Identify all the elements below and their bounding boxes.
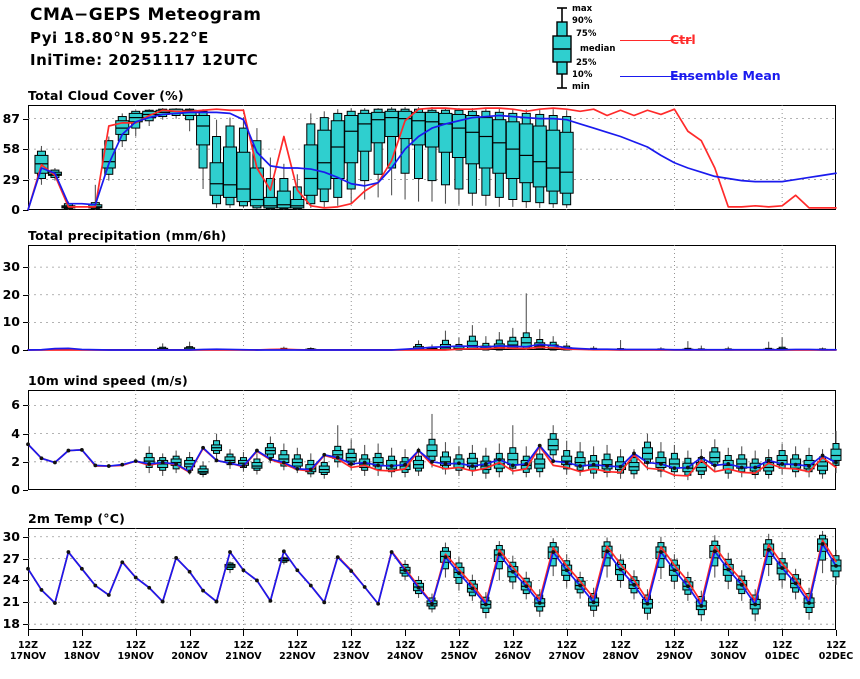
x-axis-label-0: 12Z17NOV [0,640,58,662]
y-label-cloud-29: 29 [0,172,20,187]
x-tick-2 [136,630,137,636]
x-tick-10 [567,630,568,636]
x-axis-hour-7: 12Z [375,640,435,651]
panel-title-precip: Total precipitation (mm/6h) [28,228,227,243]
x-tick-0 [28,630,29,636]
x-axis-hour-4: 12Z [213,640,273,651]
x-axis-hour-10: 12Z [537,640,597,651]
init-time: IniTime: 20251117 12UTC [30,49,262,71]
x-axis-label-4: 12Z21NOV [213,640,273,662]
x-axis-hour-14: 12Z [752,640,812,651]
x-axis-label-11: 12Z28NOV [591,640,651,662]
x-axis-label-8: 12Z25NOV [429,640,489,662]
legend-label-p90: 90% [572,16,592,26]
x-axis-date-15: 02DEC [806,651,860,662]
plot-canvas-wind [28,390,836,490]
y-tick-precip-0 [23,350,28,351]
x-axis-label-6: 12Z23NOV [321,640,381,662]
x-tick-12 [674,630,675,636]
legend: max 90% 75% median 25% 10% min Ctrl Ense… [548,2,848,94]
x-axis-hour-0: 12Z [0,640,58,651]
ctrl-legend-label: Ctrl [670,32,696,47]
x-axis-date-1: 18NOV [52,651,112,662]
y-label-temp-27: 27 [0,551,20,566]
y-label-cloud-87: 87 [0,111,20,126]
y-label-precip-20: 20 [0,287,20,302]
x-axis-hour-2: 12Z [106,640,166,651]
panel-wind-speed: 10m wind speed (m/s)0246 [28,390,836,490]
x-axis-hour-1: 12Z [52,640,112,651]
y-tick-precip-20 [23,295,28,296]
panel-2m-temp: 2m Temp (°C)1821242730 [28,528,836,630]
x-axis-date-8: 25NOV [429,651,489,662]
x-axis-label-14: 12Z01DEC [752,640,812,662]
x-axis-hour-9: 12Z [483,640,543,651]
x-axis-date-7: 24NOV [375,651,435,662]
x-tick-3 [190,630,191,636]
x-tick-7 [405,630,406,636]
x-tick-6 [351,630,352,636]
x-axis-date-12: 29NOV [644,651,704,662]
x-axis-label-7: 12Z24NOV [375,640,435,662]
x-tick-14 [782,630,783,636]
y-label-wind-2: 2 [0,454,20,469]
y-tick-cloud-0 [23,210,28,211]
x-axis-hour-11: 12Z [591,640,651,651]
y-label-precip-10: 10 [0,314,20,329]
y-label-temp-30: 30 [0,529,20,544]
y-label-temp-21: 21 [0,594,20,609]
panel-total-cloud-cover: Total Cloud Cover (%)0295887 [28,105,836,210]
x-tick-13 [728,630,729,636]
x-tick-9 [513,630,514,636]
x-axis-label-15: 12Z02DEC [806,640,860,662]
y-label-temp-18: 18 [0,616,20,631]
y-tick-temp-18 [23,624,28,625]
x-tick-15 [836,630,837,636]
y-label-wind-0: 0 [0,482,20,497]
y-label-wind-6: 6 [0,397,20,412]
x-tick-8 [459,630,460,636]
x-axis-date-4: 21NOV [213,651,273,662]
x-axis-date-0: 17NOV [0,651,58,662]
y-tick-temp-21 [23,602,28,603]
x-axis-date-2: 19NOV [106,651,166,662]
x-axis-hour-6: 12Z [321,640,381,651]
y-tick-cloud-58 [23,149,28,150]
plot-canvas-temp [28,528,836,630]
y-tick-temp-24 [23,580,28,581]
legend-label-max: max [572,4,592,14]
x-axis-hour-13: 12Z [698,640,758,651]
y-tick-precip-30 [23,267,28,268]
y-tick-cloud-87 [23,119,28,120]
ensemble-legend-label: Ensemble Mean [670,68,781,83]
legend-label-p25: 25% [576,58,596,68]
y-tick-cloud-29 [23,180,28,181]
legend-label-min: min [572,82,590,92]
panel-title-temp: 2m Temp (°C) [28,511,125,526]
y-label-wind-4: 4 [0,426,20,441]
x-axis-label-9: 12Z26NOV [483,640,543,662]
y-label-precip-0: 0 [0,342,20,357]
x-axis-labels: 12Z17NOV12Z18NOV12Z19NOV12Z20NOV12Z21NOV… [28,640,836,672]
x-axis-hour-5: 12Z [267,640,327,651]
x-axis-date-10: 27NOV [537,651,597,662]
x-axis-label-3: 12Z20NOV [160,640,220,662]
plot-canvas-cloud [28,105,836,210]
x-axis-date-6: 23NOV [321,651,381,662]
panel-total-precipitation: Total precipitation (mm/6h)0102030 [28,245,836,350]
x-axis-date-5: 22NOV [267,651,327,662]
x-axis-date-11: 28NOV [591,651,651,662]
x-tick-11 [621,630,622,636]
header-block: CMA−GEPS Meteogram Pyi 18.80°N 95.22°E I… [30,4,262,71]
x-axis-label-12: 12Z29NOV [644,640,704,662]
x-axis-label-2: 12Z19NOV [106,640,166,662]
x-axis-date-9: 26NOV [483,651,543,662]
panel-title-cloud: Total Cloud Cover (%) [28,88,184,103]
x-axis-label-1: 12Z18NOV [52,640,112,662]
x-axis-label-13: 12Z30NOV [698,640,758,662]
panel-title-wind: 10m wind speed (m/s) [28,373,188,388]
x-axis-hour-15: 12Z [806,640,860,651]
y-tick-wind-6 [23,405,28,406]
x-axis-date-3: 20NOV [160,651,220,662]
y-tick-precip-10 [23,322,28,323]
y-tick-temp-27 [23,559,28,560]
x-axis-label-10: 12Z27NOV [537,640,597,662]
y-label-cloud-58: 58 [0,141,20,156]
x-axis-date-13: 30NOV [698,651,758,662]
x-axis-hour-8: 12Z [429,640,489,651]
legend-label-p75: 75% [576,29,596,39]
y-tick-wind-4 [23,434,28,435]
plot-canvas-precip [28,245,836,350]
x-axis-hour-12: 12Z [644,640,704,651]
y-tick-wind-2 [23,462,28,463]
y-label-precip-30: 30 [0,259,20,274]
x-axis-label-5: 12Z22NOV [267,640,327,662]
x-tick-1 [82,630,83,636]
legend-label-median: median [580,44,615,54]
y-label-temp-24: 24 [0,572,20,587]
page-title: CMA−GEPS Meteogram [30,4,262,27]
x-axis-hour-3: 12Z [160,640,220,651]
x-tick-4 [243,630,244,636]
station-location: Pyi 18.80°N 95.22°E [30,27,262,49]
y-tick-wind-0 [23,490,28,491]
y-label-cloud-0: 0 [0,202,20,217]
x-tick-5 [297,630,298,636]
legend-label-p10: 10% [572,70,592,80]
y-tick-temp-30 [23,537,28,538]
x-axis-date-14: 01DEC [752,651,812,662]
